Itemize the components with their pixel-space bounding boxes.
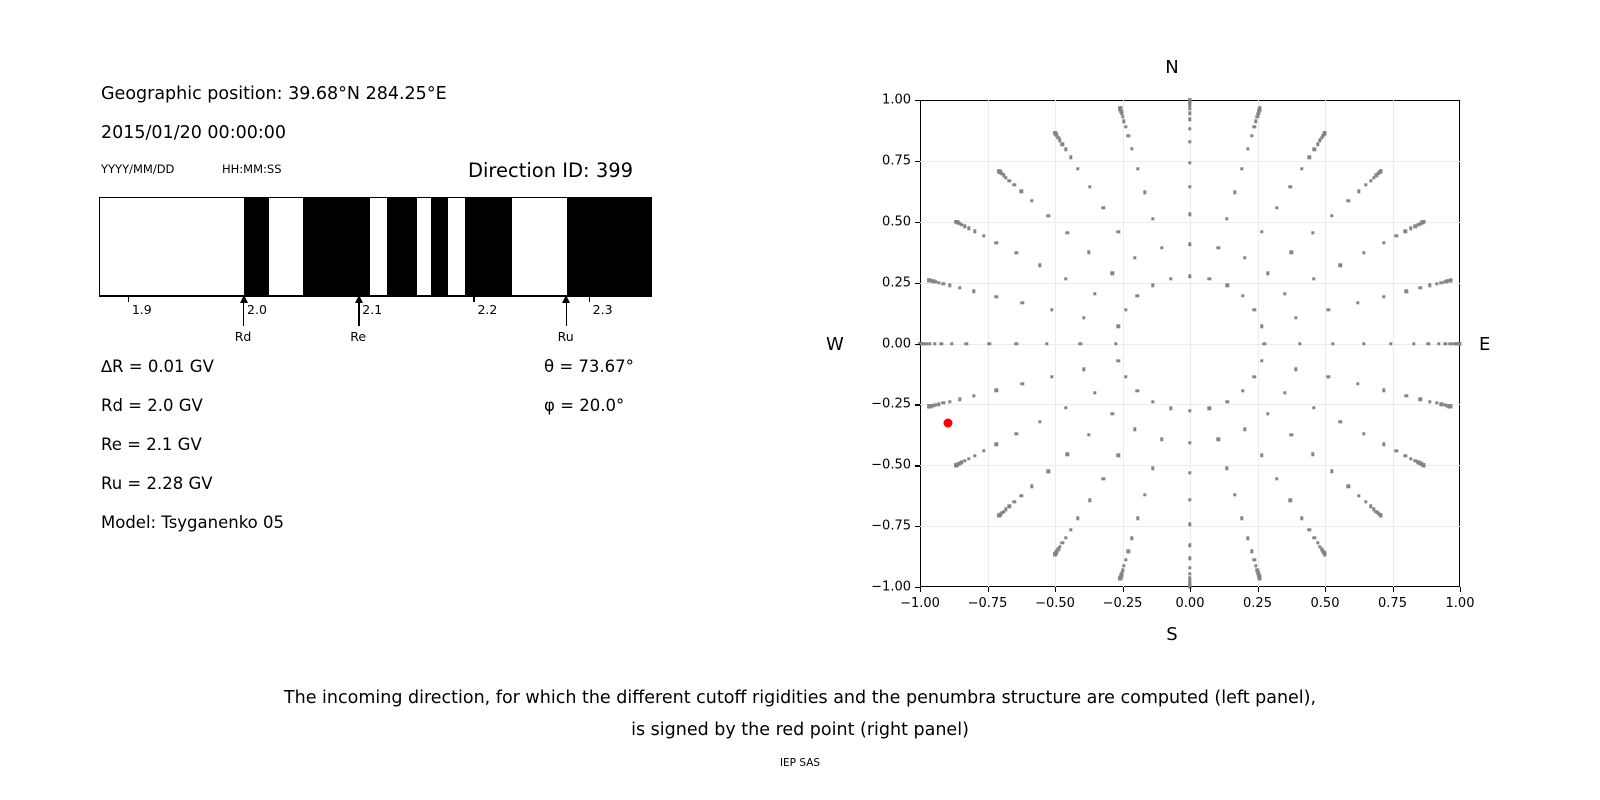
penumbra-marker-label: Ru (558, 329, 574, 344)
direction-point (1121, 115, 1124, 118)
direction-point (1339, 264, 1342, 267)
penumbra-forbidden-band (431, 198, 448, 295)
parameter-item: θ = 73.67° (544, 357, 634, 376)
penumbra-forbidden-band (567, 198, 652, 295)
direction-point (1364, 183, 1367, 186)
direction-point (1122, 564, 1125, 567)
x-axis-tick (988, 587, 989, 592)
direction-point (1151, 400, 1154, 403)
direction-point (1357, 190, 1360, 193)
direction-point (1435, 282, 1438, 285)
direction-point (1050, 308, 1053, 311)
direction-point (994, 443, 997, 446)
direction-point (1326, 375, 1329, 378)
direction-point (963, 459, 966, 462)
x-axis-tick-label: −1.00 (900, 596, 940, 611)
direction-point (1124, 125, 1127, 128)
compass-label-west: W (826, 334, 844, 355)
direction-point (940, 342, 943, 345)
direction-point (1233, 191, 1236, 194)
parameter-item: Model: Tsyganenko 05 (101, 513, 284, 532)
y-axis-tick (915, 404, 920, 405)
direction-point (1188, 498, 1191, 501)
direction-point (1188, 161, 1191, 164)
y-axis-tick-label: 0.00 (882, 336, 911, 351)
direction-point (1069, 156, 1072, 159)
selected-direction-marker[interactable] (943, 419, 952, 428)
direction-point (1253, 308, 1256, 311)
direction-point (1066, 452, 1069, 455)
direction-point (1111, 412, 1114, 415)
direction-point (1404, 454, 1407, 457)
gridline-horizontal (920, 222, 1460, 223)
direction-point (1160, 437, 1163, 440)
direction-point (1422, 220, 1425, 223)
direction-point (1127, 134, 1130, 137)
direction-point (972, 290, 975, 293)
direction-point (1254, 564, 1257, 567)
direction-point (1313, 148, 1316, 151)
direction-point (1136, 517, 1139, 520)
y-axis-tick (915, 344, 920, 345)
x-axis-tick (920, 587, 921, 592)
direction-point (1188, 118, 1191, 121)
direction-point (1243, 256, 1246, 259)
caption-line-2: is signed by the red point (right panel) (0, 720, 1600, 740)
direction-point (928, 405, 931, 408)
penumbra-axis-tick (473, 296, 474, 302)
direction-point (1136, 294, 1139, 297)
direction-point (1258, 107, 1261, 110)
direction-point (1188, 185, 1191, 188)
direction-point (1225, 217, 1228, 220)
direction-point (1064, 148, 1067, 151)
direction-point (1449, 405, 1452, 408)
direction-point (994, 389, 997, 392)
direction-point (1188, 140, 1191, 143)
direction-point (972, 394, 975, 397)
direction-point (1136, 389, 1139, 392)
y-axis-tick-label: −1.00 (871, 580, 911, 595)
direction-point (1124, 558, 1127, 561)
direction-point (1188, 112, 1191, 115)
x-axis-tick-label: 0.75 (1378, 596, 1407, 611)
direction-point (1347, 485, 1350, 488)
direction-point (1405, 394, 1408, 397)
parameter-item: Ru = 2.28 GV (101, 474, 213, 493)
datetime-text: 2015/01/20 00:00:00 (101, 123, 286, 143)
x-axis-tick (1325, 587, 1326, 592)
direction-point (1093, 391, 1096, 394)
direction-point (1240, 167, 1243, 170)
direction-point (1038, 420, 1041, 423)
direction-point (1046, 214, 1049, 217)
direction-point (1122, 119, 1125, 122)
direction-point (1357, 494, 1360, 497)
direction-point (1188, 523, 1191, 526)
direction-point (1117, 230, 1120, 233)
penumbra-forbidden-band (244, 198, 269, 295)
direction-point (1015, 342, 1018, 345)
direction-point (1064, 406, 1067, 409)
penumbra-marker-arrow (358, 296, 359, 326)
x-axis-tick (1055, 587, 1056, 592)
direction-point (1313, 536, 1316, 539)
direction-point (1323, 553, 1326, 556)
direction-point (948, 400, 951, 403)
direction-point (1124, 375, 1127, 378)
direction-point (937, 403, 940, 406)
direction-point (1093, 292, 1096, 295)
direction-point (948, 284, 951, 287)
direction-point (1030, 199, 1033, 202)
direction-point (1087, 433, 1090, 436)
direction-point (994, 241, 997, 244)
penumbra-bar-chart (99, 197, 652, 296)
direction-point (1114, 342, 1117, 345)
direction-point (1283, 391, 1286, 394)
direction-point (967, 227, 970, 230)
direction-point (1283, 292, 1286, 295)
direction-sky-map: −1.00−0.75−0.50−0.250.000.250.500.751.00… (920, 100, 1460, 587)
direction-point (1241, 294, 1244, 297)
direction-point (1300, 517, 1303, 520)
direction-point (1330, 470, 1333, 473)
x-axis-tick-label: −0.75 (968, 596, 1008, 611)
direction-point (1208, 277, 1211, 280)
direction-point (982, 234, 985, 237)
direction-point (1188, 409, 1191, 412)
direction-point (1435, 401, 1438, 404)
direction-point (1240, 517, 1243, 520)
direction-point (1250, 134, 1253, 137)
direction-point (1275, 206, 1278, 209)
direction-point (1188, 275, 1191, 278)
direction-point (963, 224, 966, 227)
x-axis-tick-label: 0.25 (1243, 596, 1272, 611)
y-axis-tick-label: 0.25 (882, 275, 911, 290)
direction-point (1217, 246, 1220, 249)
direction-point (1116, 324, 1119, 327)
direction-point (1389, 342, 1392, 345)
penumbra-axis-tick-label: 2.3 (593, 302, 613, 317)
direction-point (1437, 342, 1440, 345)
direction-point (1064, 277, 1067, 280)
direction-id-text: Direction ID: 399 (468, 159, 633, 182)
direction-point (1243, 428, 1246, 431)
penumbra-axis-tick (589, 296, 590, 302)
direction-point (1339, 420, 1342, 423)
direction-point (1444, 342, 1447, 345)
parameter-item: φ = 20.0° (544, 396, 624, 415)
direction-point (994, 295, 997, 298)
direction-point (1015, 432, 1018, 435)
direction-point (1226, 284, 1229, 287)
direction-point (1379, 170, 1382, 173)
direction-point (1289, 499, 1292, 502)
direction-point (1151, 217, 1154, 220)
penumbra-axis-tick-label: 2.0 (247, 302, 267, 317)
direction-point (1316, 142, 1319, 145)
direction-point (973, 230, 976, 233)
direction-point (1300, 167, 1303, 170)
x-axis-tick (1460, 587, 1461, 592)
direction-point (1356, 301, 1359, 304)
direction-point (1208, 407, 1211, 410)
direction-point (1078, 342, 1081, 345)
compass-label-south: S (1166, 624, 1177, 645)
screenshot-root: Geographic position: 39.68°N 284.25°E 20… (0, 0, 1600, 800)
gridline-horizontal (920, 283, 1460, 284)
direction-point (1427, 342, 1430, 345)
direction-point (1143, 493, 1146, 496)
direction-point (1395, 234, 1398, 237)
direction-point (1294, 316, 1297, 319)
direction-point (1362, 251, 1365, 254)
direction-point (1217, 437, 1220, 440)
direction-point (1412, 342, 1415, 345)
direction-point (1188, 557, 1191, 560)
direction-point (1258, 577, 1261, 580)
y-axis-tick (915, 465, 920, 466)
direction-point (942, 401, 945, 404)
direction-point (942, 282, 945, 285)
direction-point (1419, 286, 1422, 289)
direction-point (1253, 125, 1256, 128)
direction-point (997, 170, 1000, 173)
direction-point (997, 514, 1000, 517)
direction-point (1226, 400, 1229, 403)
direction-point (1076, 167, 1079, 170)
direction-point (1064, 536, 1067, 539)
direction-point (1151, 284, 1154, 287)
x-axis-tick (1258, 587, 1259, 592)
direction-point (1312, 406, 1315, 409)
direction-point (1117, 454, 1120, 457)
direction-point (973, 454, 976, 457)
penumbra-marker-label: Re (350, 329, 366, 344)
direction-point (1364, 500, 1367, 503)
direction-point (958, 286, 961, 289)
direction-point (1246, 147, 1249, 150)
y-axis-tick-label: −0.50 (871, 458, 911, 473)
direction-point (1362, 342, 1365, 345)
direction-point (1409, 457, 1412, 460)
y-axis-tick-label: −0.75 (871, 519, 911, 534)
y-axis-tick (915, 526, 920, 527)
direction-point (1289, 185, 1292, 188)
direction-point (1405, 290, 1408, 293)
direction-point (1188, 213, 1191, 216)
direction-point (1102, 206, 1105, 209)
direction-point (1256, 115, 1259, 118)
x-axis-tick (1190, 587, 1191, 592)
direction-point (1188, 127, 1191, 130)
direction-point (1311, 452, 1314, 455)
penumbra-axis-tick-label: 2.1 (362, 302, 382, 317)
gridline-horizontal (920, 526, 1460, 527)
direction-point (1130, 537, 1133, 540)
direction-point (1404, 230, 1407, 233)
direction-point (1151, 466, 1154, 469)
direction-point (1260, 359, 1263, 362)
direction-point (1250, 549, 1253, 552)
direction-point (1021, 301, 1024, 304)
direction-point (1188, 566, 1191, 569)
gridline-horizontal (920, 344, 1460, 345)
direction-point (1289, 251, 1292, 254)
direction-point (1241, 389, 1244, 392)
direction-point (967, 457, 970, 460)
direction-point (1422, 464, 1425, 467)
direction-point (1008, 179, 1011, 182)
x-axis-tick-label: 1.00 (1446, 596, 1475, 611)
direction-point (1082, 316, 1085, 319)
direction-point (1188, 441, 1191, 444)
direction-point (1382, 443, 1385, 446)
y-axis-tick-label: −0.25 (871, 397, 911, 412)
direction-point (1253, 375, 1256, 378)
y-axis-tick (915, 100, 920, 101)
direction-point (937, 281, 940, 284)
direction-point (982, 449, 985, 452)
direction-point (1260, 324, 1263, 327)
direction-point (1382, 389, 1385, 392)
direction-point (1038, 264, 1041, 267)
direction-point (1298, 342, 1301, 345)
direction-point (988, 342, 991, 345)
x-axis-tick-label: 0.00 (1176, 596, 1205, 611)
direction-point (1053, 553, 1056, 556)
direction-point (1013, 500, 1016, 503)
y-axis-tick (915, 222, 920, 223)
penumbra-forbidden-band (303, 198, 370, 295)
direction-point (1260, 230, 1263, 233)
direction-point (1428, 400, 1431, 403)
direction-point (1266, 272, 1269, 275)
direction-point (1088, 185, 1091, 188)
direction-point (1263, 342, 1266, 345)
direction-point (1169, 277, 1172, 280)
time-format-hint: HH:MM:SS (222, 162, 282, 176)
direction-point (1013, 183, 1016, 186)
direction-point (1069, 528, 1072, 531)
direction-point (1020, 494, 1023, 497)
direction-point (1082, 367, 1085, 370)
penumbra-forbidden-band (465, 198, 512, 295)
compass-label-east: E (1479, 334, 1490, 355)
direction-point (1311, 231, 1314, 234)
direction-point (1458, 342, 1461, 345)
direction-point (1275, 477, 1278, 480)
direction-point (1133, 428, 1136, 431)
direction-point (1266, 412, 1269, 415)
direction-point (1395, 449, 1398, 452)
direction-point (1188, 544, 1191, 547)
x-axis-tick (1123, 587, 1124, 592)
direction-point (1449, 279, 1452, 282)
direction-point (1312, 277, 1315, 280)
direction-point (1369, 179, 1372, 182)
direction-point (1076, 517, 1079, 520)
parameter-item: ∆R = 0.01 GV (101, 357, 214, 376)
direction-point (1233, 493, 1236, 496)
date-format-hint: YYYY/MM/DD (101, 162, 174, 176)
direction-point (1087, 251, 1090, 254)
direction-point (1225, 466, 1228, 469)
direction-point (1111, 272, 1114, 275)
direction-point (1124, 308, 1127, 311)
direction-point (1136, 167, 1139, 170)
direction-point (1188, 107, 1191, 110)
direction-point (954, 464, 957, 467)
direction-point (1045, 342, 1048, 345)
penumbra-axis-tick-label: 1.9 (132, 302, 152, 317)
direction-point (1294, 367, 1297, 370)
direction-point (1347, 199, 1350, 202)
direction-point (1409, 227, 1412, 230)
direction-point (1188, 98, 1191, 101)
y-axis-tick-label: 1.00 (882, 93, 911, 108)
direction-point (1330, 214, 1333, 217)
direction-point (1382, 295, 1385, 298)
gridline-horizontal (920, 465, 1460, 466)
direction-point (928, 342, 931, 345)
direction-point (1331, 342, 1334, 345)
direction-point (1030, 485, 1033, 488)
direction-point (1118, 577, 1121, 580)
direction-point (1015, 251, 1018, 254)
x-axis-tick-label: −0.50 (1035, 596, 1075, 611)
direction-point (1188, 572, 1191, 575)
direction-point (928, 279, 931, 282)
direction-point (1118, 107, 1121, 110)
gridline-horizontal (920, 404, 1460, 405)
direction-point (1382, 241, 1385, 244)
direction-point (1130, 147, 1133, 150)
x-axis-tick (1393, 587, 1394, 592)
y-axis-tick (915, 283, 920, 284)
direction-point (1307, 528, 1310, 531)
direction-point (1246, 537, 1249, 540)
direction-point (1428, 284, 1431, 287)
direction-point (958, 397, 961, 400)
direction-point (933, 342, 936, 345)
penumbra-axis-tick-label: 2.2 (477, 302, 497, 317)
direction-point (1419, 397, 1422, 400)
direction-point (1307, 156, 1310, 159)
direction-point (964, 342, 967, 345)
penumbra-marker-arrow (566, 296, 567, 326)
direction-point (1289, 433, 1292, 436)
y-axis-tick (915, 161, 920, 162)
parameter-item: Re = 2.1 GV (101, 435, 202, 454)
direction-point (1050, 375, 1053, 378)
direction-point (1254, 119, 1257, 122)
direction-point (1260, 454, 1263, 457)
compass-label-north: N (1165, 57, 1178, 78)
direction-point (1188, 243, 1191, 246)
penumbra-marker-label: Rd (235, 329, 252, 344)
direction-point (1061, 142, 1064, 145)
direction-point (1160, 246, 1163, 249)
direction-point (950, 342, 953, 345)
direction-point (1127, 549, 1130, 552)
penumbra-axis-tick (128, 296, 129, 302)
direction-point (1053, 131, 1056, 134)
direction-point (1323, 131, 1326, 134)
direction-point (1102, 477, 1105, 480)
